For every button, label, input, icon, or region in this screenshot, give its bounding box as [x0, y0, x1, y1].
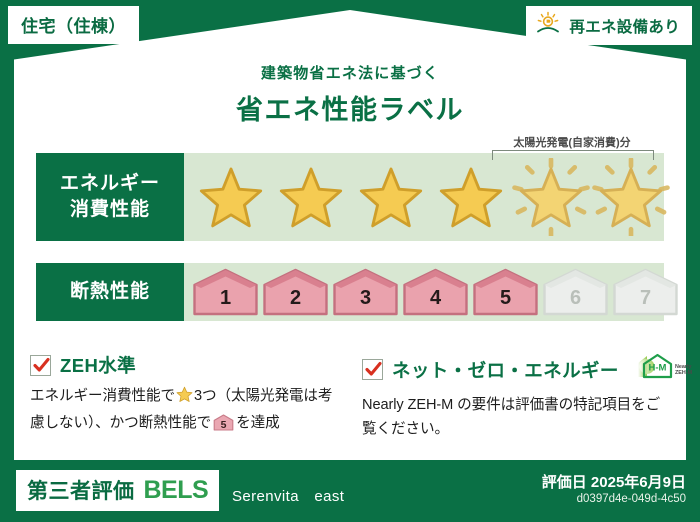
- zeh-checkbox[interactable]: [30, 355, 51, 376]
- zeh-check-header: ZEH水準: [30, 352, 340, 378]
- insulation-level-badge: 6: [542, 268, 609, 316]
- energy-star: [272, 158, 350, 236]
- certification-checks: ZEH水準 エネルギー消費性能で3つ（太陽光発電は考慮しない）、かつ断熱性能で5…: [30, 352, 675, 441]
- zeh-standard-check: ZEH水準 エネルギー消費性能で3つ（太陽光発電は考慮しない）、かつ断熱性能で5…: [30, 352, 340, 441]
- insulation-label-text: 断熱性能: [70, 279, 150, 305]
- renewable-equipment-badge: 再エネ設備あり: [526, 6, 692, 45]
- energy-star-rating: [184, 153, 664, 241]
- insulation-level-number: 7: [612, 287, 679, 310]
- bels-en-label: BELS: [144, 476, 209, 505]
- building-name: Serenvita east: [232, 485, 344, 506]
- bels-logo-box: 第三者評価 BELS: [16, 470, 219, 511]
- category-tag: 住宅（住棟）: [8, 6, 139, 44]
- insulation-level-number: 1: [192, 287, 259, 310]
- page-title: 省エネ性能ラベル: [0, 88, 700, 127]
- energy-label-line2: 消費性能: [70, 197, 150, 223]
- zeh-check-description: エネルギー消費性能で3つ（太陽光発電は考慮しない）、かつ断熱性能で5を達成: [30, 385, 340, 439]
- insulation-row-panel: 1234567: [184, 263, 664, 321]
- bels-energy-label: 住宅（住棟） 再エネ設備あり 建築物省エネ法に基づく 省エネ性能ラベル: [0, 0, 700, 522]
- evaluation-id: d0397d4e-049d-4c50: [577, 493, 686, 505]
- insulation-level-number: 3: [332, 287, 399, 310]
- check-icon: [32, 356, 51, 375]
- insulation-level-badge: 7: [612, 268, 679, 316]
- zeh-check-title: ZEH水準: [60, 352, 136, 378]
- energy-row-label: エネルギー 消費性能: [36, 153, 184, 241]
- energy-label-line1: エネルギー: [60, 171, 160, 197]
- label-footer: 第三者評価 BELS Serenvita east 評価日 2025年6月9日 …: [0, 462, 700, 522]
- insulation-level-badge: 5: [472, 268, 539, 316]
- insulation-performance-row: 断熱性能 1234567: [36, 263, 664, 321]
- nze-check-header: ネット・ゼロ・エネルギー H-M Nearly: [362, 352, 672, 387]
- nze-check-description: Nearly ZEH-M の要件は評価書の特記項目をご覧ください。: [362, 394, 672, 441]
- zeh-desc-part3: を達成: [236, 415, 279, 431]
- solar-annotation-bracket: [492, 150, 654, 160]
- evaluation-date: 評価日 2025年6月9日: [542, 471, 686, 492]
- insulation-level-badge: 4: [402, 268, 469, 316]
- energy-star: [432, 158, 510, 236]
- svg-text:H-M: H-M: [648, 363, 666, 374]
- net-zero-energy-check: ネット・ゼロ・エネルギー H-M Nearly: [362, 352, 672, 441]
- insulation-level-badge: 3: [332, 268, 399, 316]
- insulation-row-label: 断熱性能: [36, 263, 184, 321]
- renewable-badge-label: 再エネ設備あり: [569, 15, 680, 37]
- insulation-level-badge: 2: [262, 268, 329, 316]
- svg-text:5: 5: [221, 419, 227, 431]
- energy-performance-row: エネルギー 消費性能 太陽光発電(自家消費)分: [36, 153, 664, 241]
- nze-checkbox[interactable]: [362, 359, 383, 380]
- energy-row-panel: 太陽光発電(自家消費)分: [184, 153, 664, 241]
- title-block: 建築物省エネ法に基づく 省エネ性能ラベル: [0, 62, 700, 127]
- title-subtitle: 建築物省エネ法に基づく: [0, 62, 700, 83]
- insulation-level-number: 4: [402, 287, 469, 310]
- insulation-level-number: 2: [262, 287, 329, 310]
- insulation-level-number: 6: [542, 287, 609, 310]
- solar-bonus-star: [592, 158, 670, 236]
- insulation-level-badge: 1: [192, 268, 259, 316]
- nze-check-title: ネット・ゼロ・エネルギー: [392, 357, 619, 383]
- solar-sun-icon: [535, 11, 561, 40]
- svg-text:ZEH-M: ZEH-M: [675, 370, 693, 376]
- inline-house-badge: 5: [213, 419, 234, 435]
- insulation-level-scale: 1234567: [184, 263, 664, 321]
- performance-rows: エネルギー 消費性能 太陽光発電(自家消費)分 断熱性能 1234567: [36, 153, 664, 321]
- insulation-level-number: 5: [472, 287, 539, 310]
- solar-annotation-label: 太陽光発電(自家消費)分: [488, 134, 656, 150]
- inline-star-icon: [176, 391, 193, 407]
- solar-bonus-star: [512, 158, 590, 236]
- energy-star: [352, 158, 430, 236]
- bels-jp-label: 第三者評価: [27, 475, 135, 505]
- check-icon: [364, 360, 383, 379]
- zeh-m-logo-icon: H-M Nearly ZEH-M: [634, 352, 696, 387]
- energy-star: [192, 158, 270, 236]
- zeh-desc-part1: エネルギー消費性能で: [30, 388, 175, 404]
